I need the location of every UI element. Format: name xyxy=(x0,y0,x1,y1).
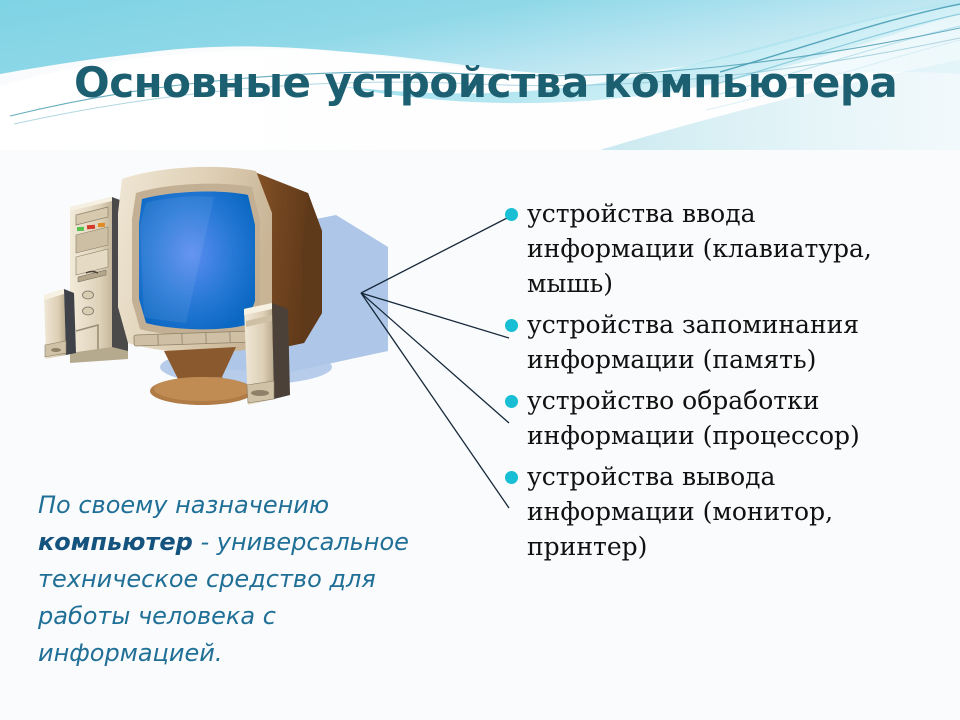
bullet-dot-icon xyxy=(505,395,518,408)
speaker-left xyxy=(44,289,76,359)
definition-caption: По своему назначению компьютер - универс… xyxy=(38,487,458,672)
caption-lead: По своему назначению xyxy=(38,491,329,519)
bullet-dot-icon xyxy=(505,208,518,221)
list-item-label: устройства запоминания информации (памят… xyxy=(527,307,927,377)
crt-monitor xyxy=(118,167,322,355)
bullet-dot-icon xyxy=(505,471,518,484)
slide: Основные устройства компьютера xyxy=(0,0,960,720)
list-item: устройства вывода информации (монитор, п… xyxy=(505,459,945,564)
list-item-label: устройства вывода информации (монитор, п… xyxy=(527,459,927,564)
list-item-label: устройства ввода информации (клавиатура,… xyxy=(527,196,927,301)
device-list: устройства ввода информации (клавиатура,… xyxy=(505,196,945,570)
list-item: устройства запоминания информации (памят… xyxy=(505,307,945,377)
desktop-computer-illustration xyxy=(36,155,406,415)
list-item: устройство обработки информации (процесс… xyxy=(505,383,945,453)
page-title: Основные устройства компьютера xyxy=(74,58,914,107)
speaker-right xyxy=(244,303,290,405)
list-item-label: устройство обработки информации (процесс… xyxy=(527,383,927,453)
list-item: устройства ввода информации (клавиатура,… xyxy=(505,196,945,301)
caption-emphasis: компьютер xyxy=(38,528,193,556)
bullet-dot-icon xyxy=(505,319,518,332)
